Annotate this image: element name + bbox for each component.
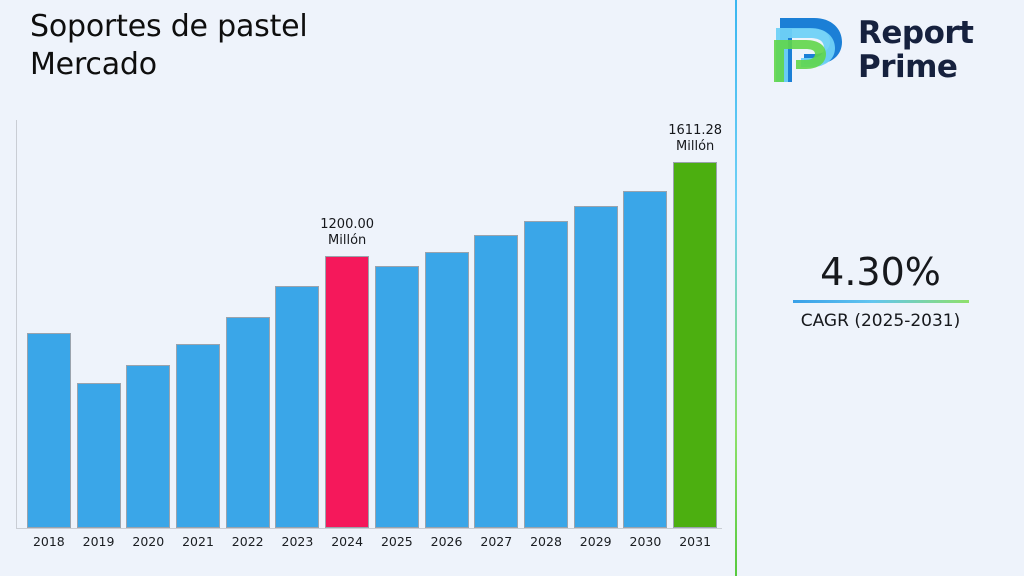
bar-rect <box>77 383 121 528</box>
bar-2020 <box>126 365 170 528</box>
bar-2027 <box>474 235 518 528</box>
bar-2026 <box>425 252 469 528</box>
bar-rect <box>623 191 667 528</box>
bar-rect <box>275 286 319 528</box>
bar-rect <box>226 317 270 528</box>
bar-rect <box>176 344 220 528</box>
bar-2028 <box>524 221 568 528</box>
chart-infographic: Soportes de pastel Mercado 2018201920202… <box>0 0 1024 576</box>
bar-rect <box>673 162 717 528</box>
brand-panel: Report Prime 4.30% CAGR (2025-2031) <box>737 0 1024 576</box>
bar-2018 <box>27 333 71 528</box>
bar-rect <box>524 221 568 528</box>
bar-2030 <box>623 191 667 528</box>
bar-rect <box>574 206 618 528</box>
brand-name: Report Prime <box>858 16 974 84</box>
bar-rect <box>325 256 369 528</box>
bar-2029 <box>574 206 618 528</box>
bar-value-label-2024: 1200.00 Millón <box>287 217 407 249</box>
chart-panel: Soportes de pastel Mercado 2018201920202… <box>0 0 735 576</box>
bar-rect <box>27 333 71 528</box>
bar-rect <box>126 365 170 528</box>
bar-2023 <box>275 286 319 528</box>
cagr-caption: CAGR (2025-2031) <box>737 311 1024 331</box>
bar-2022 <box>226 317 270 528</box>
cagr-value: 4.30% <box>737 250 1024 294</box>
bar-2021 <box>176 344 220 528</box>
bar-chart: 20182019202020212022202320241200.00 Mill… <box>0 120 735 540</box>
cagr-block: 4.30% CAGR (2025-2031) <box>737 250 1024 331</box>
bar-2031 <box>673 162 717 528</box>
report-prime-logo-icon <box>774 14 848 86</box>
bar-rect <box>375 266 419 528</box>
bar-2024 <box>325 256 369 528</box>
page-title: Soportes de pastel Mercado <box>30 8 308 84</box>
bar-rect <box>425 252 469 528</box>
brand-logo: Report Prime <box>774 10 1004 92</box>
cagr-divider <box>793 300 969 303</box>
bar-rect <box>474 235 518 528</box>
bar-2025 <box>375 266 419 528</box>
bar-2019 <box>77 383 121 528</box>
x-tick-2031: 2031 <box>665 534 725 549</box>
